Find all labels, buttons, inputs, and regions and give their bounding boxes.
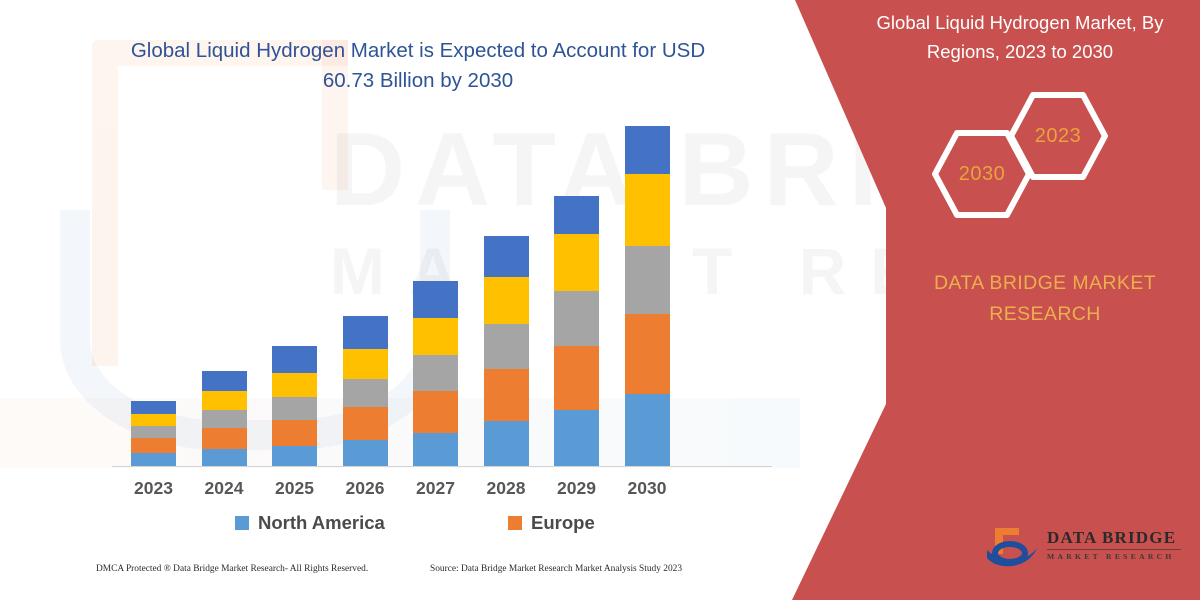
bar-segment xyxy=(272,397,317,420)
footer-source: Source: Data Bridge Market Research Mark… xyxy=(430,564,682,574)
bar-segment xyxy=(625,394,670,466)
bar-segment xyxy=(484,277,529,324)
bar-segment xyxy=(413,355,458,391)
bar-segment xyxy=(272,420,317,446)
bar-segment xyxy=(272,373,317,397)
bar-segment xyxy=(554,196,599,234)
logo-b-mark-icon xyxy=(985,524,1041,572)
bar-segment xyxy=(413,318,458,355)
bar-segment xyxy=(272,346,317,373)
bar-segment xyxy=(343,440,388,466)
legend-item-north-america[interactable]: North America xyxy=(235,512,385,534)
bar-segment xyxy=(272,446,317,466)
chart-legend: North AmericaEurope xyxy=(0,512,800,540)
bar-2026 xyxy=(343,316,388,466)
bar-2029 xyxy=(554,196,599,466)
bar-2023 xyxy=(131,401,176,466)
hex-badge-2023-label: 2023 xyxy=(1035,125,1082,148)
x-label-2024: 2024 xyxy=(189,478,259,499)
x-label-2028: 2028 xyxy=(471,478,541,499)
bar-segment xyxy=(131,426,176,438)
bar-segment xyxy=(343,349,388,379)
footer-copyright: DMCA Protected ® Data Bridge Market Rese… xyxy=(96,564,368,574)
bar-segment xyxy=(484,421,529,466)
bar-segment xyxy=(131,453,176,466)
bar-segment xyxy=(131,414,176,426)
legend-item-europe[interactable]: Europe xyxy=(508,512,595,534)
bar-segment xyxy=(202,410,247,428)
logo-subtitle: MARKET RESEARCH xyxy=(1047,552,1187,562)
bar-segment xyxy=(202,391,247,410)
logo-title: DATA BRIDGE xyxy=(1047,528,1187,547)
bar-segment xyxy=(554,410,599,466)
bar-segment xyxy=(131,438,176,453)
data-bridge-logo: DATA BRIDGE MARKET RESEARCH xyxy=(985,522,1185,576)
bar-segment xyxy=(343,379,388,407)
x-label-2023: 2023 xyxy=(119,478,189,499)
bar-2028 xyxy=(484,236,529,466)
x-axis-line xyxy=(112,466,772,467)
legend-swatch xyxy=(235,516,249,530)
footer: DMCA Protected ® Data Bridge Market Rese… xyxy=(82,562,782,582)
x-label-2029: 2029 xyxy=(542,478,612,499)
bar-2027 xyxy=(413,281,458,466)
legend-label: North America xyxy=(258,512,385,534)
bar-segment xyxy=(625,174,670,246)
bar-segment xyxy=(554,234,599,291)
bar-segment xyxy=(625,126,670,174)
bar-segment xyxy=(413,391,458,433)
x-axis-labels: 20232024202520262027202820292030 xyxy=(0,478,800,504)
bar-segment xyxy=(413,433,458,466)
bar-segment xyxy=(413,281,458,318)
infographic-canvas: DATA BRIDGE MARKET RESEARCH Global Liqui… xyxy=(0,0,1200,600)
logo-text: DATA BRIDGE MARKET RESEARCH xyxy=(1047,528,1187,562)
bar-segment xyxy=(625,246,670,314)
bar-segment xyxy=(343,407,388,440)
legend-label: Europe xyxy=(531,512,595,534)
bar-segment xyxy=(554,291,599,346)
bar-chart: 20232024202520262027202820292030 North A… xyxy=(0,0,800,600)
bar-segment xyxy=(343,316,388,349)
right-panel-brand: DATA BRIDGE MARKET RESEARCH xyxy=(900,268,1190,330)
bar-segment xyxy=(202,428,247,449)
bar-segment xyxy=(625,314,670,394)
right-panel-heading: Global Liquid Hydrogen Market, By Region… xyxy=(855,8,1185,66)
bar-segment xyxy=(554,346,599,410)
bar-segment xyxy=(484,236,529,277)
x-label-2030: 2030 xyxy=(612,478,682,499)
bar-2024 xyxy=(202,371,247,466)
bar-segment xyxy=(202,371,247,391)
x-label-2027: 2027 xyxy=(401,478,471,499)
hex-badge-2023: 2023 xyxy=(1008,92,1108,180)
x-label-2026: 2026 xyxy=(330,478,400,499)
x-label-2025: 2025 xyxy=(260,478,330,499)
bar-segment xyxy=(202,449,247,466)
bar-2025 xyxy=(272,346,317,466)
hex-badge-2030-label: 2030 xyxy=(959,163,1006,186)
logo-divider xyxy=(1047,549,1181,550)
bar-segment xyxy=(484,324,529,369)
bar-2030 xyxy=(625,126,670,466)
bar-segment xyxy=(484,369,529,421)
hex-badge-group: 2030 2023 xyxy=(920,100,1120,220)
legend-swatch xyxy=(508,516,522,530)
bar-segment xyxy=(131,401,176,414)
